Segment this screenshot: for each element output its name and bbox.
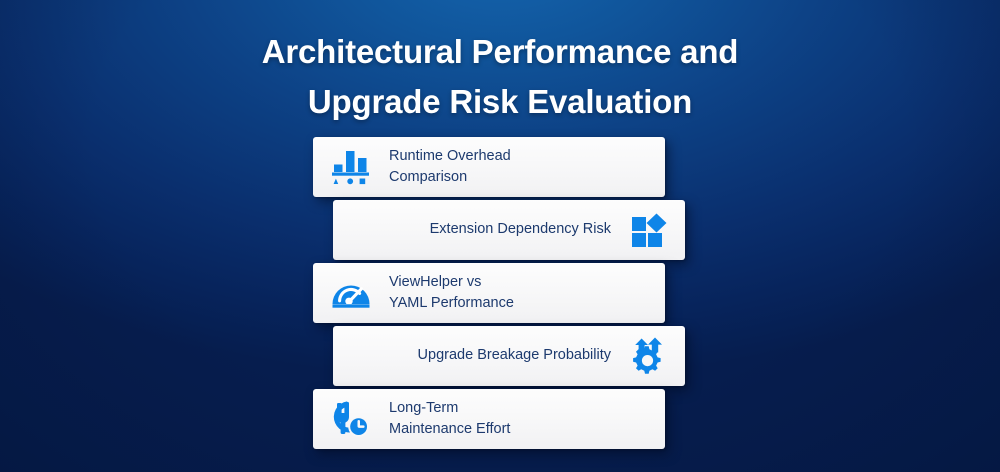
page-title-line-1: Architectural Performance and bbox=[0, 27, 1000, 77]
slide-canvas: Architectural Performance and Upgrade Ri… bbox=[0, 0, 1000, 472]
page-title-line-2: Upgrade Risk Evaluation bbox=[0, 77, 1000, 127]
list-item-label: ViewHelper vs YAML Performance bbox=[389, 272, 514, 314]
list-item-runtime-overhead-comparison[interactable]: Runtime Overhead Comparison bbox=[313, 137, 665, 197]
list-item-label: Runtime Overhead Comparison bbox=[389, 146, 511, 188]
list-item-long-term-maintenance-effort[interactable]: Long-Term Maintenance Effort bbox=[313, 389, 665, 449]
bar-chart-legend-icon bbox=[329, 147, 373, 187]
list-item-label: Extension Dependency Risk bbox=[430, 219, 611, 240]
list-item-viewhelper-vs-yaml-performance[interactable]: ViewHelper vs YAML Performance bbox=[313, 263, 665, 323]
list-item-upgrade-breakage-probability[interactable]: Upgrade Breakage Probability bbox=[333, 326, 685, 386]
speedometer-gauge-icon bbox=[329, 273, 373, 313]
page-title: Architectural Performance and Upgrade Ri… bbox=[0, 27, 1000, 127]
list-item-label: Upgrade Breakage Probability bbox=[418, 345, 611, 366]
squares-diamond-icon bbox=[627, 210, 671, 250]
wrench-clock-maintenance-icon bbox=[329, 399, 373, 439]
list-item-extension-dependency-risk[interactable]: Extension Dependency Risk bbox=[333, 200, 685, 260]
card-list: Runtime Overhead Comparison Extension De… bbox=[0, 137, 1000, 452]
list-item-label: Long-Term Maintenance Effort bbox=[389, 398, 510, 440]
gear-upgrade-arrows-icon bbox=[627, 336, 671, 376]
